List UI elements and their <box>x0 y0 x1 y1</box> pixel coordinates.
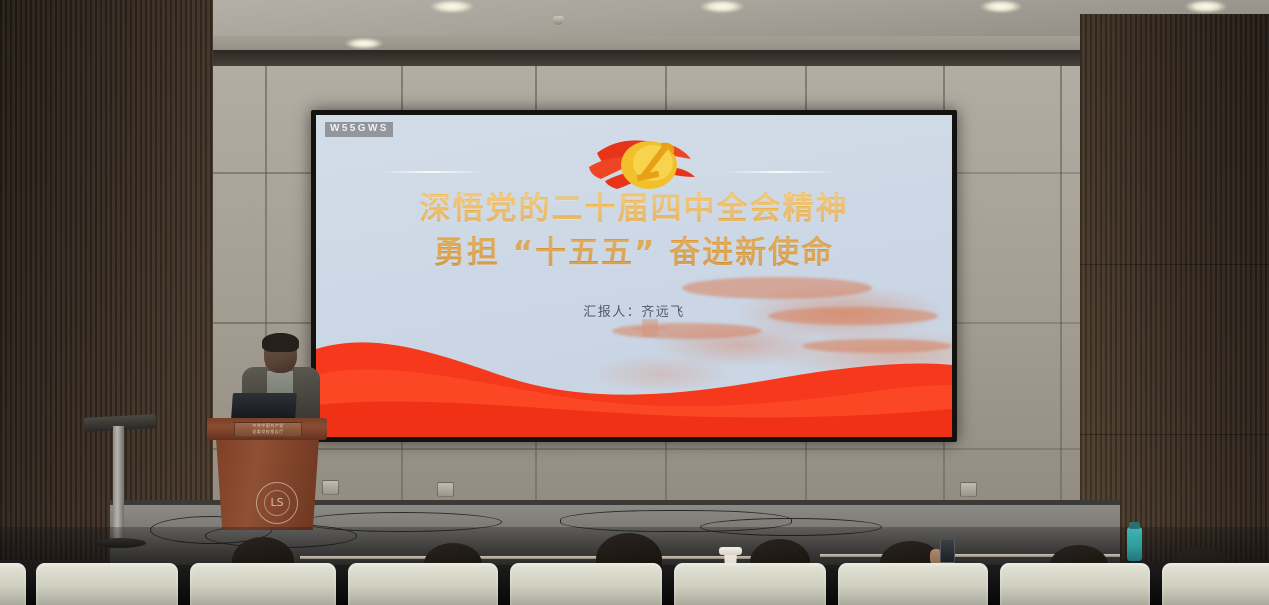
audience-seat[interactable] <box>1162 563 1269 605</box>
wall-panel-seam <box>1060 50 1062 550</box>
title-rule-right <box>724 171 836 173</box>
ceiling-light <box>1185 0 1227 13</box>
wall-header-band <box>205 50 1095 66</box>
sprinkler-head <box>553 16 564 25</box>
conference-hall-photo: W55GWS <box>0 0 1269 605</box>
podium-logo: LS <box>256 482 298 524</box>
podium-nameplate: 中共中国共产党 党委党校报告厅 <box>234 422 302 437</box>
audience-seat[interactable] <box>838 563 988 605</box>
mountain-ridge <box>682 277 872 299</box>
podium-body: LS <box>216 438 319 530</box>
coffee-cup-lid <box>719 547 742 555</box>
audience-seat[interactable] <box>1000 563 1150 605</box>
right-wood-wall <box>1080 14 1269 562</box>
speaker-hair <box>262 333 299 352</box>
red-wave-graphic <box>316 319 952 437</box>
podium: LS 中共中国共产党 党委党校报告厅 <box>207 418 327 530</box>
ceiling-light <box>430 0 474 13</box>
watermark-label: W55GWS <box>325 122 393 137</box>
wall-outlet <box>437 482 454 497</box>
slide-title: 深悟党的二十届四中全会精神 勇担 “十五五” 奋进新使命 <box>316 187 952 275</box>
stand-pole <box>113 426 124 542</box>
smartphone <box>940 539 955 563</box>
ceiling-light <box>980 0 1022 13</box>
laptop <box>231 393 297 419</box>
presentation-stand <box>88 398 152 548</box>
seat-row-rail <box>300 556 780 559</box>
presentation-slide: W55GWS <box>316 115 952 437</box>
wall-panel-seam <box>205 448 1095 450</box>
wall-outlet <box>960 482 977 497</box>
water-bottle-cap <box>1129 522 1140 529</box>
audience-seat[interactable] <box>36 563 178 605</box>
ceiling-light <box>700 0 744 13</box>
title-rule-left <box>380 171 484 173</box>
audience-seat[interactable] <box>190 563 336 605</box>
audience-seat[interactable] <box>674 563 826 605</box>
slide-title-line-1: 深悟党的二十届四中全会精神 <box>420 191 849 227</box>
water-bottle <box>1127 527 1142 561</box>
slide-title-line-2: 勇担 “十五五” 奋进新使命 <box>316 231 952 275</box>
ceiling-light <box>345 38 383 49</box>
led-screen[interactable]: W55GWS <box>311 110 957 442</box>
podium-nameplate-line-2: 党委党校报告厅 <box>235 429 301 435</box>
wall-panel-seam <box>1080 434 1269 435</box>
podium-logo-text: LS <box>264 490 290 516</box>
audience-seat[interactable] <box>510 563 662 605</box>
audience-seat[interactable] <box>0 563 26 605</box>
slide-presenter: 汇报人：齐远飞 <box>316 301 952 320</box>
audience-seat[interactable] <box>348 563 498 605</box>
wall-panel-seam <box>1080 264 1269 265</box>
